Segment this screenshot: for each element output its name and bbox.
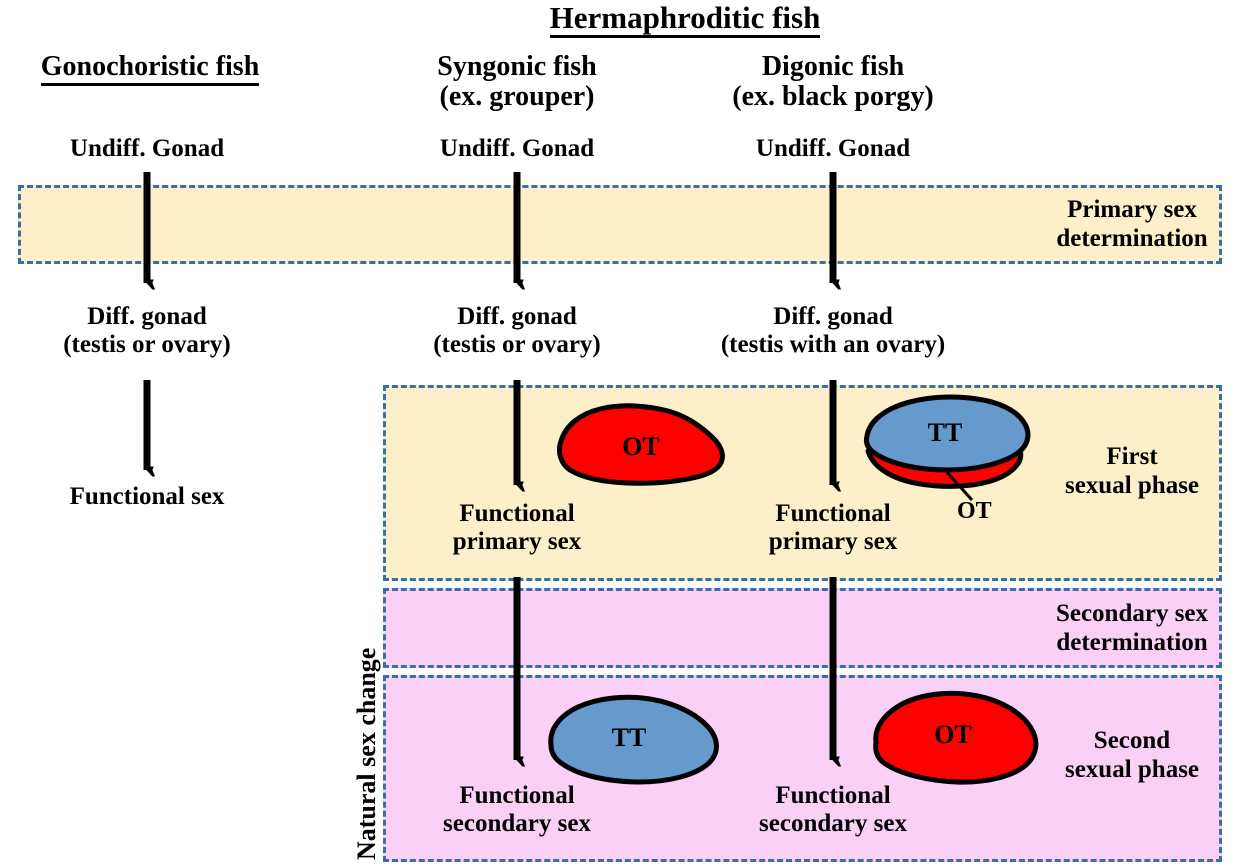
node-col3-undiff-gonad: Undiff. Gonad — [683, 135, 983, 163]
node-col1-diff-gonad-line1: Diff. gonad — [0, 303, 294, 331]
band-label-primary-sex-determination: Primary sex determination — [1047, 196, 1217, 253]
node-col3-functional-primary-sex-line2: primary sex — [707, 528, 959, 556]
diagram-canvas: Hermaphroditic fish Gonochoristic fish S… — [0, 0, 1250, 865]
node-col3-functional-secondary-sex-line2: secondary sex — [707, 810, 959, 838]
node-col3-functional-secondary-sex: Functional secondary sex — [707, 782, 959, 837]
node-col2-functional-secondary-sex: Functional secondary sex — [391, 782, 643, 837]
column-heading-gonochoristic: Gonochoristic fish — [0, 52, 300, 86]
gonad-label-digonic-second-ot: OT — [903, 720, 1003, 750]
band-label-first-phase-line1: First — [1047, 443, 1217, 472]
column-heading-gonochoristic-text: Gonochoristic fish — [41, 52, 260, 86]
node-col1-diff-gonad: Diff. gonad (testis or ovary) — [0, 303, 294, 358]
node-col1-functional-sex: Functional sex — [0, 483, 294, 511]
band-label-second-phase-line2: sexual phase — [1047, 756, 1217, 785]
node-col3-functional-primary-sex-line1: Functional — [707, 500, 959, 528]
node-col3-diff-gonad: Diff. gonad (testis with an ovary) — [658, 303, 1008, 358]
column-heading-syngonic-line2: (ex. grouper) — [367, 82, 667, 112]
title-hermaphroditic-fish: Hermaphroditic fish — [520, 2, 850, 38]
gonad-label-syngonic-first-ot: OT — [591, 432, 691, 462]
gonad-label-syngonic-second-tt: TT — [579, 723, 679, 753]
band-label-secondary-sex-determination: Secondary sex determination — [1042, 600, 1222, 657]
node-col1-undiff-gonad: Undiff. Gonad — [0, 135, 294, 163]
band-label-primary-line2: determination — [1047, 225, 1217, 254]
gonad-label-digonic-first-ot-callout: OT — [957, 498, 992, 525]
node-col3-functional-primary-sex: Functional primary sex — [707, 500, 959, 555]
node-col2-diff-gonad-line2: (testis or ovary) — [367, 331, 667, 359]
node-col2-functional-secondary-sex-line2: secondary sex — [391, 810, 643, 838]
band-label-second-sexual-phase: Second sexual phase — [1047, 727, 1217, 784]
band-label-first-phase-line2: sexual phase — [1047, 472, 1217, 501]
band-label-second-phase-line1: Second — [1047, 727, 1217, 756]
column-heading-syngonic-line1: Syngonic fish — [367, 52, 667, 82]
column-heading-digonic-line2: (ex. black porgy) — [683, 82, 983, 112]
column-heading-digonic: Digonic fish (ex. black porgy) — [683, 52, 983, 112]
node-col2-functional-primary-sex: Functional primary sex — [391, 500, 643, 555]
column-heading-digonic-line1: Digonic fish — [683, 52, 983, 82]
band-label-first-sexual-phase: First sexual phase — [1047, 443, 1217, 500]
band-label-primary-line1: Primary sex — [1047, 196, 1217, 225]
band-label-secondary-line2: determination — [1042, 629, 1222, 658]
gonad-label-digonic-first-tt: TT — [895, 418, 995, 448]
node-col2-functional-secondary-sex-line1: Functional — [391, 782, 643, 810]
band-label-secondary-line1: Secondary sex — [1042, 600, 1222, 629]
node-col2-diff-gonad: Diff. gonad (testis or ovary) — [367, 303, 667, 358]
title-hermaphroditic-fish-text: Hermaphroditic fish — [550, 2, 821, 38]
band-primary-sex-determination — [18, 185, 1222, 264]
node-col2-functional-primary-sex-line2: primary sex — [391, 528, 643, 556]
node-col2-functional-primary-sex-line1: Functional — [391, 500, 643, 528]
side-label-natural-sex-change: Natural sex change — [352, 648, 382, 860]
node-col2-diff-gonad-line1: Diff. gonad — [367, 303, 667, 331]
node-col3-diff-gonad-line2: (testis with an ovary) — [658, 331, 1008, 359]
node-col1-diff-gonad-line2: (testis or ovary) — [0, 331, 294, 359]
column-heading-syngonic: Syngonic fish (ex. grouper) — [367, 52, 667, 112]
node-col2-undiff-gonad: Undiff. Gonad — [367, 135, 667, 163]
node-col3-functional-secondary-sex-line1: Functional — [707, 782, 959, 810]
node-col3-diff-gonad-line1: Diff. gonad — [658, 303, 1008, 331]
